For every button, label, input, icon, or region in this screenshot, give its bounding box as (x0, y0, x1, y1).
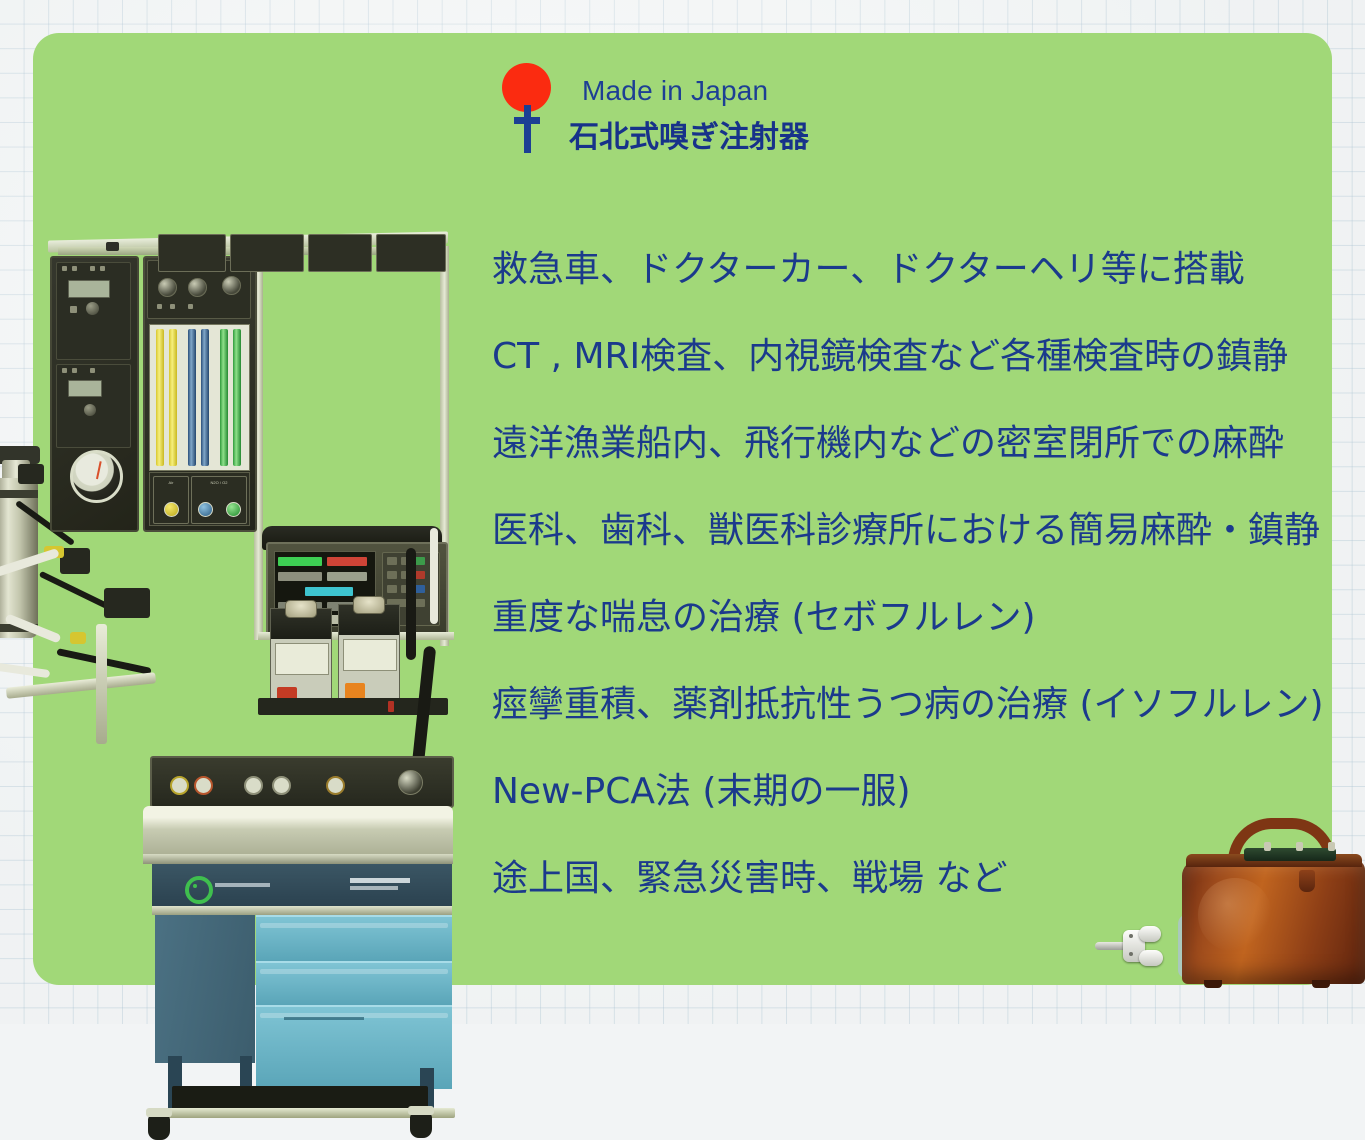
bag-body (1182, 860, 1365, 984)
cart-leg-inner (240, 1056, 252, 1090)
flow-control-knob-n2o[interactable] (188, 278, 207, 297)
flow-control-knob-o2[interactable] (222, 276, 241, 295)
monitor-reading-row (327, 557, 367, 566)
use-case-list: 救急車、ドクターカー、ドクターヘリ等に搭載 CT , MRI検査、内視鏡検査など… (492, 252, 1322, 897)
slide-header: Made in Japan 石北式嗅ぎ注射器 (470, 55, 1170, 165)
cabinet-side-panel (155, 915, 255, 1063)
module-button (90, 368, 95, 373)
ventilator-knob (86, 302, 99, 315)
flow-control-knob-air[interactable] (158, 278, 177, 297)
monitor-reading-row (305, 587, 353, 596)
bag-latch (1299, 870, 1315, 892)
anesthesia-machine-photo: Air N2O / O2 (0, 228, 460, 988)
vaporizer-dial[interactable] (353, 596, 385, 614)
cabinet-model-text (215, 883, 270, 887)
monitor-key[interactable] (387, 571, 397, 579)
flow-tube-n2o (188, 329, 196, 466)
air-pressure-gauge-2 (194, 776, 213, 795)
module-button (62, 266, 67, 271)
control-cell-storage (230, 234, 304, 272)
control-cell-oxygen (308, 234, 372, 272)
vaporizer-label (275, 643, 329, 675)
flow-tube-air (156, 329, 164, 466)
doctor-bag-photo (1182, 818, 1365, 990)
control-cell-switch (376, 234, 446, 272)
cylinder-band (0, 490, 38, 498)
regulator-block (60, 548, 90, 574)
vaporizer-right (338, 604, 400, 706)
support-arm (6, 672, 156, 699)
monitor-key[interactable] (415, 585, 425, 593)
caster-cap (146, 1108, 172, 1117)
gas-indicator-n2o (198, 502, 213, 517)
work-surface-edge (143, 854, 453, 864)
vaporizer-dial[interactable] (285, 600, 317, 618)
gas-label-n2o-o2: N2O / O2 (192, 480, 246, 485)
main-power-knob[interactable] (398, 770, 423, 795)
vaporizer-top (339, 605, 399, 635)
cross-vertical-bar (524, 105, 531, 153)
flowmeter-button[interactable] (188, 304, 193, 309)
caster-wheel-left (148, 1114, 170, 1140)
flowmeter-button[interactable] (170, 304, 175, 309)
storage-gauge-1 (244, 776, 263, 795)
cabinet-drawer-top[interactable] (256, 915, 452, 961)
module-button (70, 306, 77, 313)
caster-wheel-right (410, 1112, 432, 1138)
monitor-key[interactable] (415, 571, 425, 579)
pressure-gauge (70, 450, 123, 503)
inhaler-nozzle-upper (1139, 926, 1161, 942)
yellow-fitting (70, 632, 86, 644)
gas-indicator-o2 (226, 502, 241, 517)
gas-label-air: Air (154, 480, 188, 485)
list-item: 医科、歯科、獣医科診療所における簡易麻酔・鎮静 (492, 513, 1322, 549)
caster-cap (408, 1106, 434, 1115)
list-item: 痙攣重積、薬剤抵抗性うつ病の治療 (イソフルレン) (492, 687, 1322, 723)
list-item: CT , MRI検査、内視鏡検査など各種検査時の鎮静 (492, 339, 1322, 375)
storage-gauge-2 (272, 776, 291, 795)
control-cell-air (158, 234, 226, 272)
product-name-title: 石北式嗅ぎ注射器 (569, 112, 809, 156)
drawer-handle[interactable] (260, 923, 448, 928)
vaporizer-left (270, 608, 332, 710)
flowmeter-button[interactable] (157, 304, 162, 309)
inhaler-nozzle-lower (1139, 950, 1163, 966)
monitor-reading-row (278, 557, 322, 566)
bag-foot (1312, 980, 1330, 988)
cart-base-mat (172, 1086, 428, 1110)
nasal-inhaler-device (1095, 924, 1167, 970)
bag-leather-sheen (1198, 878, 1272, 952)
monitor-key[interactable] (415, 557, 425, 565)
bag-foot (1204, 980, 1222, 988)
flow-tube-n2o (201, 329, 209, 466)
gas-indicator-air (164, 502, 179, 517)
flow-tube-o2 (233, 329, 241, 466)
bag-stud (1328, 842, 1335, 851)
vaporizer-label (343, 639, 397, 671)
list-item: 重度な喘息の治療 (セボフルレン) (492, 600, 1322, 636)
cabinet-system-text (350, 886, 398, 890)
regulator-block (18, 464, 44, 484)
ventilator-display-lower (68, 380, 102, 397)
cabinet-trim (152, 906, 452, 915)
vaporizer-switch-isoflurane[interactable] (345, 683, 365, 699)
white-hose (0, 662, 50, 678)
medical-cross-icon (514, 105, 540, 153)
clear-tubing (430, 528, 438, 624)
cross-horizontal-bar (514, 117, 540, 124)
regulator-block (104, 588, 150, 618)
monitor-key[interactable] (387, 557, 397, 565)
bag-stud (1264, 842, 1271, 851)
bag-clasp (1244, 848, 1336, 861)
flowmeter-tube-bank (149, 324, 250, 471)
bag-stud (1296, 842, 1303, 851)
breathing-hose (406, 548, 416, 660)
flow-tube-o2 (220, 329, 228, 466)
air-pressure-gauge (170, 776, 189, 795)
shelf-clip (106, 242, 119, 251)
module-button (100, 266, 105, 271)
list-item: New-PCA法 (末期の一服) (492, 774, 1322, 810)
vaporizer-top (271, 609, 331, 639)
module-button (72, 266, 77, 271)
support-post (96, 624, 107, 744)
made-in-japan-label: Made in Japan (582, 75, 768, 107)
oxygen-gauge (326, 776, 345, 795)
black-hose (39, 571, 114, 611)
power-indicator-icon (185, 876, 213, 904)
work-surface (143, 806, 453, 858)
drawer-label (284, 1017, 364, 1020)
flow-tube-air (169, 329, 177, 466)
drawer-handle[interactable] (260, 969, 448, 974)
monitor-reading-row (327, 572, 367, 581)
monitor-key[interactable] (387, 585, 397, 593)
cabinet-brand-text (350, 878, 410, 883)
monitor-reading-row (278, 572, 322, 581)
list-item: 遠洋漁業船内、飛行機内などの密室閉所での麻酔 (492, 426, 1322, 462)
cabinet-drawer-middle[interactable] (256, 961, 452, 1005)
module-button (90, 266, 95, 271)
list-item: 救急車、ドクターカー、ドクターヘリ等に搭載 (492, 252, 1322, 288)
module-button (62, 368, 67, 373)
inhaler-port (1129, 952, 1133, 956)
ventilator-knob-lower (84, 404, 96, 416)
inhaler-port (1129, 934, 1133, 938)
ventilator-display (68, 280, 110, 298)
gauge-needle (96, 461, 102, 479)
module-button (72, 368, 77, 373)
gas-selector-panel: Air N2O / O2 (149, 472, 250, 526)
